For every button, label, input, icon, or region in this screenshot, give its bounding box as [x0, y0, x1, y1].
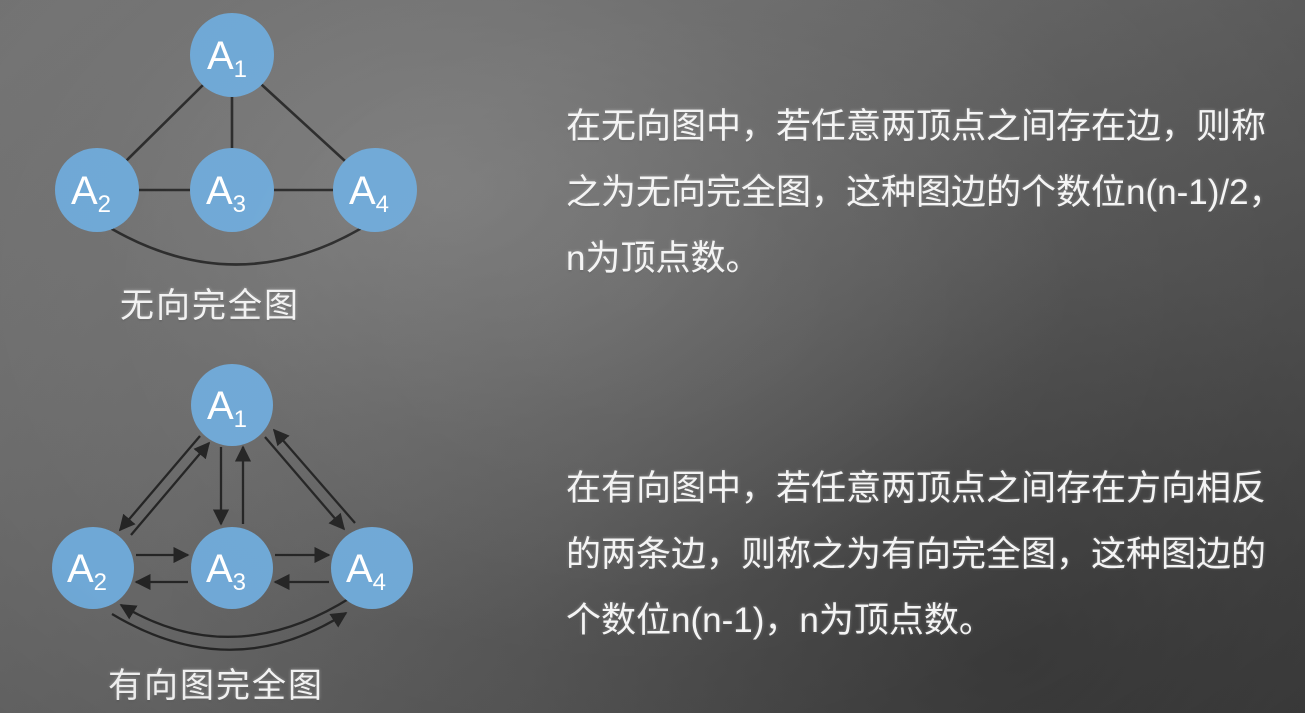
caption-directed-graph: 有向图完全图 [108, 658, 324, 707]
node-d-a2-subscript: 2 [94, 569, 107, 596]
paragraph-undirected-definition: 在无向图中，若任意两顶点之间存在边，则称之为无向完全图，这种图边的个数位n(n-… [566, 94, 1286, 292]
arrow-a1-to-a4 [265, 437, 344, 529]
node-d-a1[interactable]: A1 [191, 364, 273, 446]
arrow-a4-to-a1 [274, 430, 355, 523]
directed-nodes: A1 A2 A3 A4 [52, 364, 413, 609]
node-d-a4-subscript: 4 [373, 569, 386, 596]
node-d-a3-subscript: 3 [233, 569, 246, 596]
node-d-a4[interactable]: A4 [331, 527, 413, 609]
paragraph-directed-definition: 在有向图中，若任意两顶点之间存在方向相反的两条边，则称之为有向完全图，这种图边的… [566, 456, 1286, 654]
node-d-a2[interactable]: A2 [52, 527, 134, 609]
node-d-a3[interactable]: A3 [191, 527, 273, 609]
node-d-a1-subscript: 1 [234, 406, 247, 433]
arrow-a1-to-a2 [120, 436, 200, 530]
slide-canvas: A1 A2 A3 A4 无向完全图 [0, 0, 1305, 713]
directed-complete-graph: A1 A2 A3 A4 [0, 0, 470, 713]
arrow-a2-to-a1 [131, 443, 209, 535]
